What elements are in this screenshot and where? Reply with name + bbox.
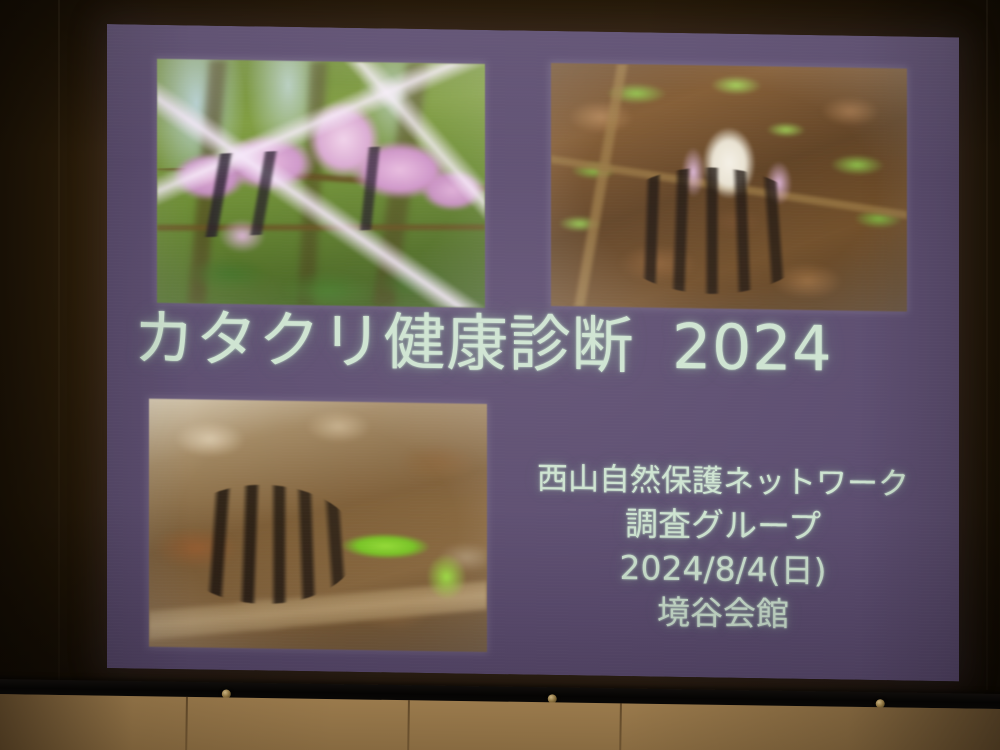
photo2-edge-glow bbox=[551, 63, 907, 312]
slide-credits: 西山自然保護ネットワーク 調査グループ 2024/8/4(日) 境谷会館 bbox=[513, 458, 933, 639]
photo1-edge-glow bbox=[157, 59, 485, 308]
screenshot-root: カタクリ健康診断2024 西山自然保護ネットワーク 調査グループ 2024/8/… bbox=[0, 0, 1000, 750]
credits-group: 調査グループ bbox=[513, 500, 933, 551]
photo3-edge-glow bbox=[149, 399, 487, 652]
credits-date: 2024/8/4(日) bbox=[513, 544, 933, 595]
slide-title-year: 2024 bbox=[672, 310, 832, 386]
wall-seam-left bbox=[58, 0, 60, 690]
presentation-slide: カタクリ健康診断2024 西山自然保護ネットワーク 調査グループ 2024/8/… bbox=[107, 24, 959, 681]
photo-forest-floor bbox=[149, 399, 487, 652]
photo-katakuri-single bbox=[551, 63, 907, 312]
wall-seam-right bbox=[986, 0, 988, 690]
projection-screen: カタクリ健康診断2024 西山自然保護ネットワーク 調査グループ 2024/8/… bbox=[107, 24, 959, 681]
credits-organization: 西山自然保護ネットワーク bbox=[513, 458, 933, 506]
slide-title: カタクリ健康診断2024 bbox=[133, 307, 832, 380]
slide-title-main: カタクリ健康診断 bbox=[133, 301, 634, 382]
credits-venue: 境谷会館 bbox=[513, 588, 933, 639]
photo-katakuri-flowers bbox=[157, 59, 485, 308]
